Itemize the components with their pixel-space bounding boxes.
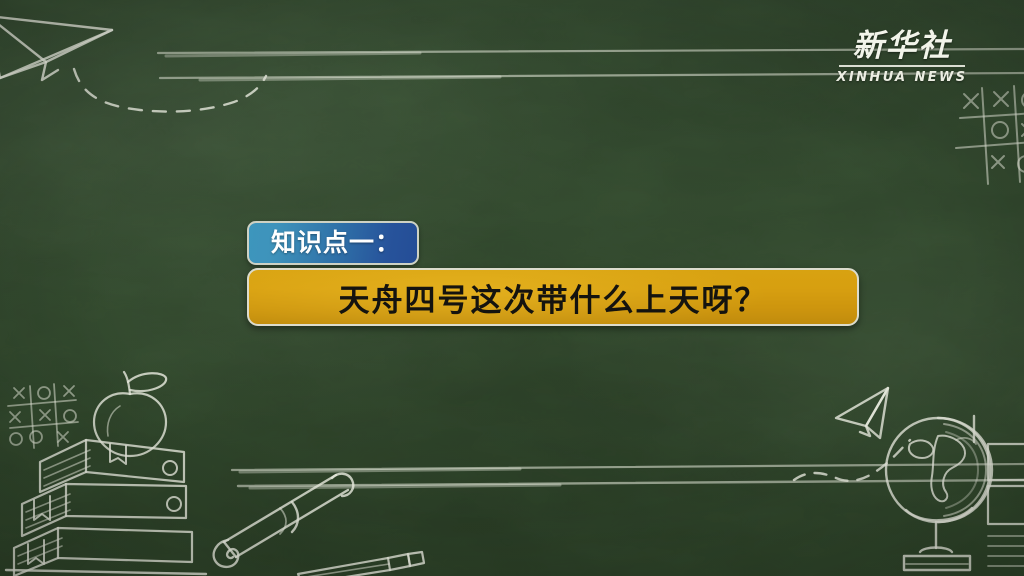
topic-badge: 知识点一： bbox=[247, 221, 419, 265]
dashed-flight-trail-icon-top-left bbox=[60, 66, 300, 146]
caption-block: 知识点一： 天舟四号这次带什么上天呀？ bbox=[247, 221, 859, 326]
tic-tac-toe-icon-top-right bbox=[952, 84, 1024, 188]
question-bar: 天舟四号这次带什么上天呀？ bbox=[247, 268, 859, 326]
pencil-icon bbox=[292, 544, 432, 576]
book-stack-icon-right-edge bbox=[986, 440, 1024, 576]
topic-badge-label: 知识点一： bbox=[271, 228, 401, 257]
question-text: 天舟四号这次带什么上天呀？ bbox=[339, 275, 768, 320]
video-frame: 新华社 XINHUA NEWS 知识点一： 天舟四号这次带什么上天呀？ bbox=[0, 0, 1024, 576]
